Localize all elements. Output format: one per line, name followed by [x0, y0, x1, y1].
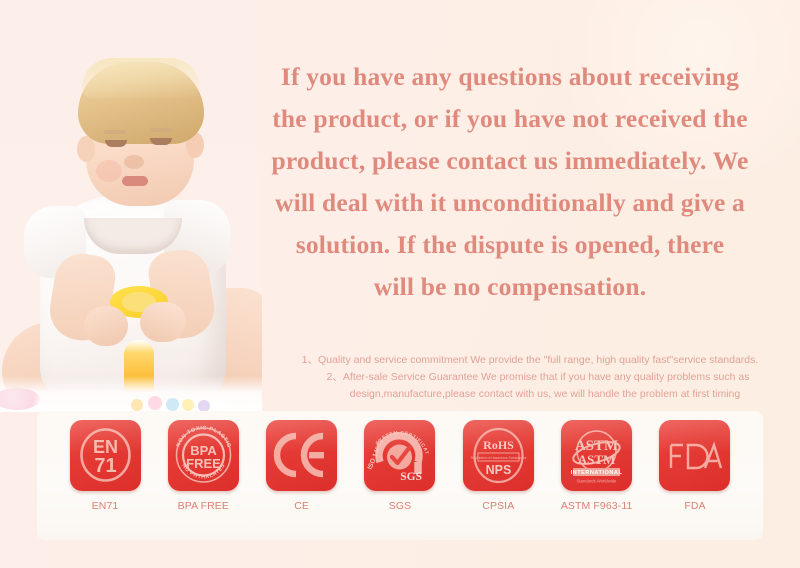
certification-label-fda: FDA: [684, 500, 705, 512]
floor-bead: [182, 399, 194, 411]
certification-item-fda[interactable]: FDA: [654, 420, 736, 512]
certification-label-ce: CE: [294, 500, 309, 512]
svg-text:NPS: NPS: [485, 463, 511, 477]
floor-bead: [131, 399, 143, 411]
headline-line-2: the product, or if you have not received…: [230, 98, 790, 140]
baby-brow-left: [104, 130, 126, 134]
headline-line-3: product, please contact us immediately. …: [230, 140, 790, 182]
floor-bead: [166, 398, 179, 411]
certification-item-en71[interactable]: EN 71 EN71: [64, 420, 146, 512]
certification-item-bpa-free[interactable]: NON TOXIC PLASTIC NO PHTHALATES BPA FREE…: [162, 420, 244, 512]
headline-line-6: will be no compensation.: [230, 266, 790, 308]
svg-text:71: 71: [94, 455, 116, 477]
sgs-certification-icon: SYSTEM CERTIFICATION ISO 14001 SGS: [364, 420, 435, 491]
svg-text:ASTM: ASTM: [578, 452, 616, 467]
certification-label-bpa-free: BPA FREE: [178, 500, 229, 512]
svg-text:INTERNATIONAL: INTERNATIONAL: [571, 470, 623, 476]
ce-certification-icon: [266, 420, 337, 491]
certification-label-astm: ASTM F963-11: [561, 500, 633, 512]
service-note-2: 2、After-sale Service Guarantee We promis…: [270, 369, 790, 386]
fda-certification-icon: [659, 420, 730, 491]
cpsia-certification-icon: RoHS Restriction of Hazardous Substances…: [463, 420, 534, 491]
service-note-3: design,manufacture,please contact with u…: [270, 386, 790, 403]
product-service-banner: If you have any questions about receivin…: [0, 0, 800, 568]
baby-hand-left: [84, 306, 128, 346]
baby-photo: [0, 0, 262, 412]
certification-label-sgs: SGS: [389, 500, 411, 512]
certification-item-astm[interactable]: ASTM ASTM INTERNATIONAL Standards Worldw…: [556, 420, 638, 512]
baby-nose: [124, 155, 144, 169]
baby-mouth: [122, 176, 148, 186]
service-note-1: 1、Quality and service commitment We prov…: [270, 352, 790, 369]
certification-label-cpsia: CPSIA: [482, 500, 514, 512]
certification-row: EN 71 EN71: [37, 411, 763, 540]
svg-text:Restriction of Hazardous Subst: Restriction of Hazardous Substances: [470, 456, 526, 460]
certification-item-ce[interactable]: CE: [261, 420, 343, 512]
service-commitment-text: 1、Quality and service commitment We prov…: [270, 352, 790, 403]
headline-line-5: solution. If the dispute is opened, ther…: [230, 224, 790, 266]
certification-label-en71: EN71: [92, 500, 119, 512]
svg-text:EN: EN: [92, 437, 117, 457]
svg-text:RoHS: RoHS: [483, 438, 514, 452]
certification-item-cpsia[interactable]: RoHS Restriction of Hazardous Substances…: [457, 420, 539, 512]
en71-certification-icon: EN 71: [70, 420, 141, 491]
certification-panel: EN 71 EN71: [37, 411, 763, 540]
svg-text:FREE: FREE: [186, 456, 221, 471]
baby-hair-highlight: [82, 58, 200, 98]
page-title: If you have any questions about receivin…: [230, 56, 790, 308]
baby-brow-right: [150, 128, 172, 132]
astm-certification-icon: ASTM ASTM INTERNATIONAL Standards Worldw…: [561, 420, 632, 491]
svg-text:Standards Worldwide: Standards Worldwide: [577, 479, 617, 484]
baby-hand-right: [140, 302, 186, 342]
baby-eye-left: [105, 140, 127, 147]
headline-line-1: If you have any questions about receivin…: [230, 56, 790, 98]
bpa-free-certification-icon: NON TOXIC PLASTIC NO PHTHALATES BPA FREE: [168, 420, 239, 491]
baby-eye-right: [150, 138, 172, 145]
baby-cheek: [96, 160, 122, 182]
floor-bead: [148, 396, 162, 410]
svg-text:SGS: SGS: [401, 471, 423, 483]
certification-item-sgs[interactable]: SYSTEM CERTIFICATION ISO 14001 SGS SGS: [359, 420, 441, 512]
headline-line-4: will deal with it unconditionally and gi…: [230, 182, 790, 224]
